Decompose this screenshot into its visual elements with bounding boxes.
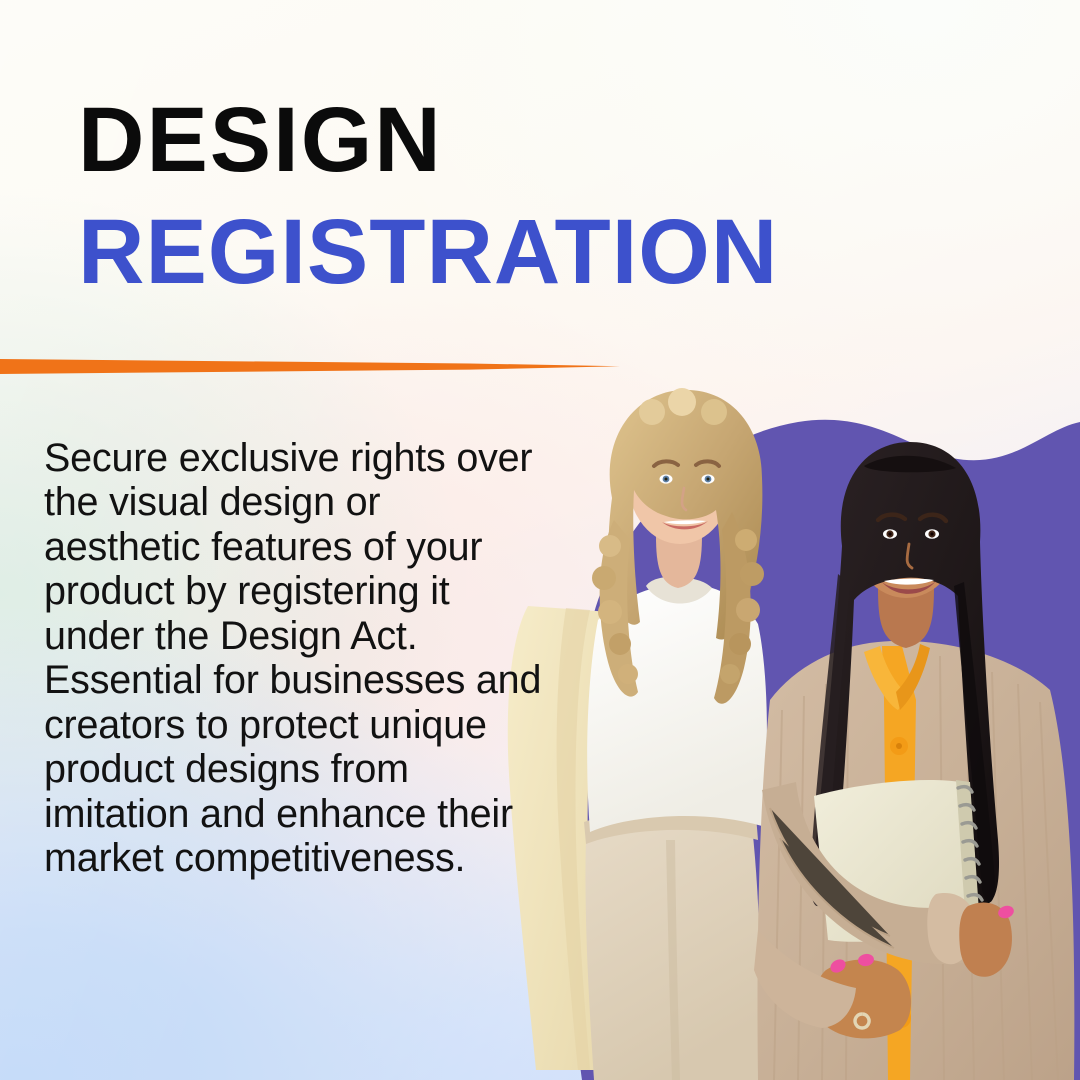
body-paragraph-1: Secure exclusive rights over the visual … [44, 436, 544, 658]
two-women-professionals-photo [470, 370, 1080, 1080]
tapered-orange-rule [0, 352, 620, 382]
headline-line-1: DESIGN [78, 96, 443, 184]
poster-canvas: DESIGN REGISTRATION Secure exclusive rig… [0, 0, 1080, 1080]
body-copy-block: Secure exclusive rights over the visual … [44, 436, 544, 880]
body-paragraph-2: Essential for businesses and creators to… [44, 658, 544, 880]
headline-line-2: REGISTRATION [78, 208, 778, 296]
